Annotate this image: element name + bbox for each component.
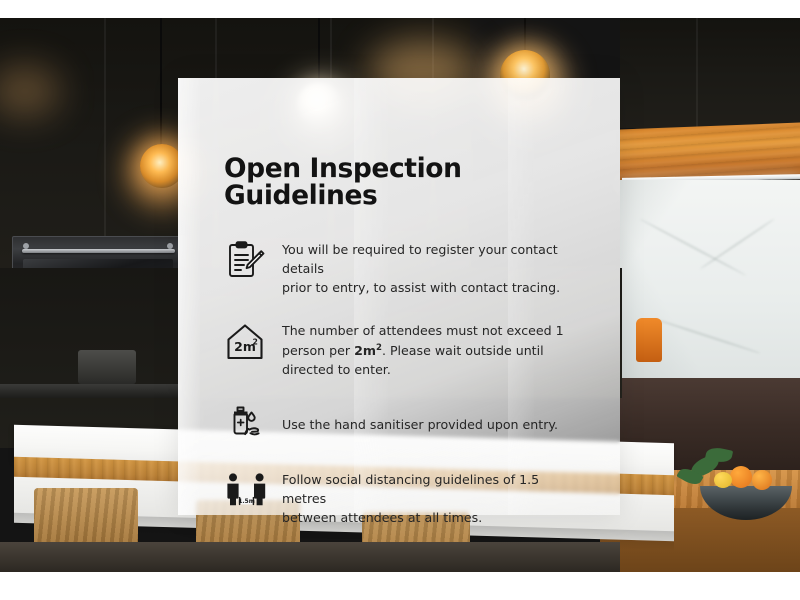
page-title: Open Inspection Guidelines [224,156,586,209]
guideline-item-capacity: 2m 2 The number of attendees must not ex… [224,320,586,378]
guideline-line: prior to entry, to assist with contact t… [282,280,560,295]
oven-handle [22,249,175,253]
guideline-item-register: You will be required to register your co… [224,239,586,297]
cabinet-seam [104,18,106,268]
timber-overhead-cabinet [620,123,800,182]
guideline-item-distancing: 1.5m Follow social distancing guidelines… [224,469,586,527]
poster-canvas: Open Inspection Guidelines [0,0,800,600]
oven-knob [167,243,173,249]
guideline-text-register: You will be required to register your co… [282,239,586,297]
orange-accent-object [636,318,662,362]
guidelines-panel: Open Inspection Guidelines [178,78,620,515]
guideline-text-distancing: Follow social distancing guidelines of 1… [282,469,586,527]
guideline-line: You will be required to register your co… [282,242,558,276]
hand-sanitiser-icon [224,402,270,446]
social-distancing-icon: 1.5m [224,469,270,513]
frame-band-top [0,0,800,18]
guideline-bold-value: 2m [354,343,376,358]
guideline-text-capacity: The number of attendees must not exceed … [282,320,586,378]
cabinet-seam [696,18,698,128]
distance-icon-label: 1.5m [238,499,254,505]
clipboard-pencil-icon [224,239,270,283]
guideline-line: between attendees at all times. [282,510,482,525]
oven-knob [23,243,29,249]
guideline-text-sanitiser: Use the hand sanitiser provided upon ent… [282,414,558,434]
frame-band-bottom [0,572,800,600]
fruit-orange [730,466,752,488]
floor-foreground [0,542,620,572]
dark-upper-cabinetry-right [620,18,800,128]
house-two-square-metres-icon: 2m 2 [224,320,270,364]
guideline-line: Use the hand sanitiser provided upon ent… [282,417,558,432]
canister-group [78,350,136,384]
fruit-lemon [714,472,732,488]
guideline-line: Follow social distancing guidelines of 1… [282,472,539,506]
house-icon-label-sup: 2 [253,338,258,347]
pendant-cord [160,18,162,146]
guideline-item-sanitiser: Use the hand sanitiser provided upon ent… [224,402,586,446]
fruit-orange [752,470,772,490]
dark-benchtop-left [0,384,200,398]
